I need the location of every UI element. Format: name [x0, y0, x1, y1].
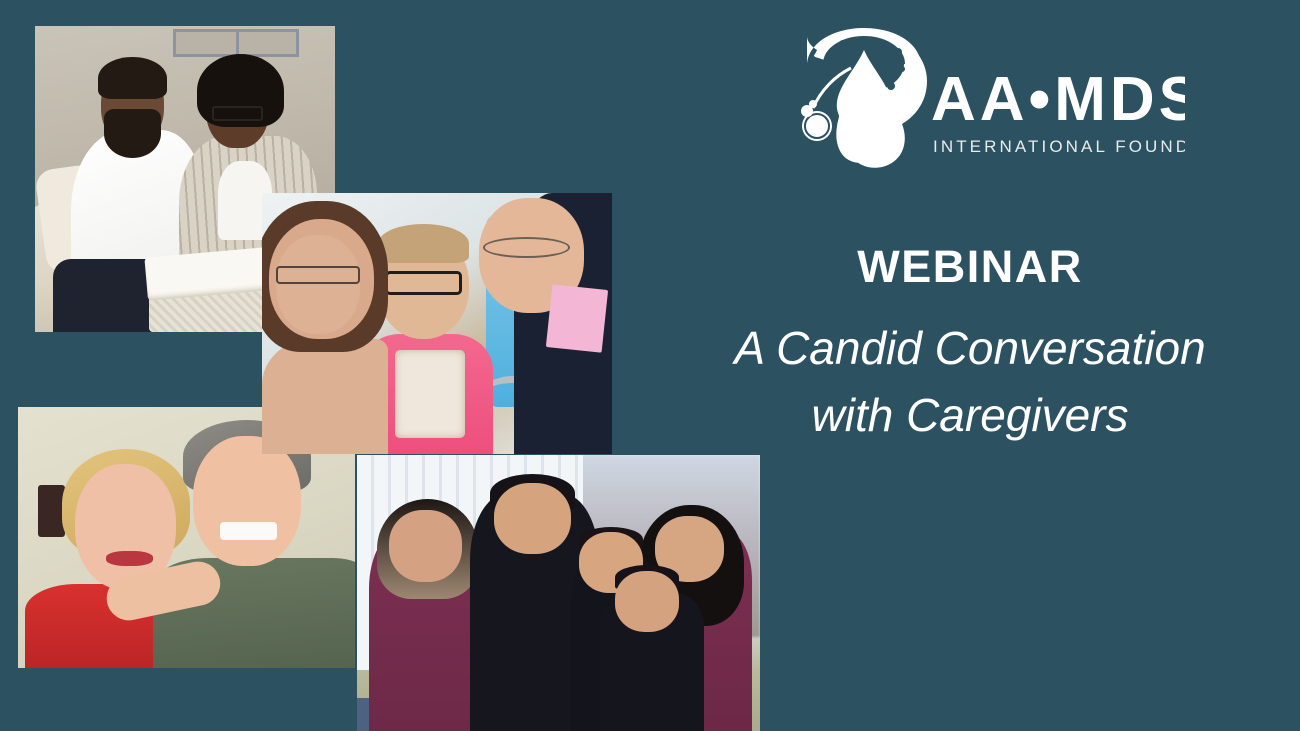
mother-face	[389, 510, 462, 582]
patient-glasses	[385, 271, 462, 294]
webinar-title-line-1: A Candid Conversation	[660, 315, 1280, 382]
marrow-droplet-icon	[801, 28, 927, 168]
aamds-logo: AA•MDS INTERNATIONAL FOUNDATION	[755, 24, 1185, 184]
mother-glasses	[276, 266, 360, 284]
man-hair	[98, 57, 167, 100]
father-face	[494, 483, 571, 555]
webinar-eyebrow: WEBINAR	[857, 244, 1082, 289]
aamds-logo-svg: AA•MDS INTERNATIONAL FOUNDATION	[755, 24, 1185, 184]
webinar-title: A Candid Conversation with Caregivers	[660, 315, 1280, 448]
logo-wordmark: AA•MDS	[931, 65, 1185, 134]
woman-smile	[106, 551, 153, 567]
visitor-badge	[546, 284, 608, 352]
webinar-title-line-2: with Caregivers	[660, 382, 1280, 449]
mother-face	[276, 235, 360, 334]
photo-hospital-selfie	[262, 193, 612, 454]
patient-hair	[378, 224, 469, 263]
wall-frame	[173, 29, 299, 57]
webinar-promo-banner: AA•MDS INTERNATIONAL FOUNDATION WEBINAR …	[0, 0, 1300, 731]
mother-arm	[262, 339, 388, 454]
chest-dressing	[395, 350, 465, 439]
content-panel: AA•MDS INTERNATIONAL FOUNDATION WEBINAR …	[640, 0, 1300, 731]
logo-tagline: INTERNATIONAL FOUNDATION	[933, 137, 1185, 156]
woman-glasses	[212, 106, 263, 121]
man-face	[193, 436, 301, 567]
man-smile	[220, 522, 277, 540]
man-beard	[104, 109, 161, 158]
